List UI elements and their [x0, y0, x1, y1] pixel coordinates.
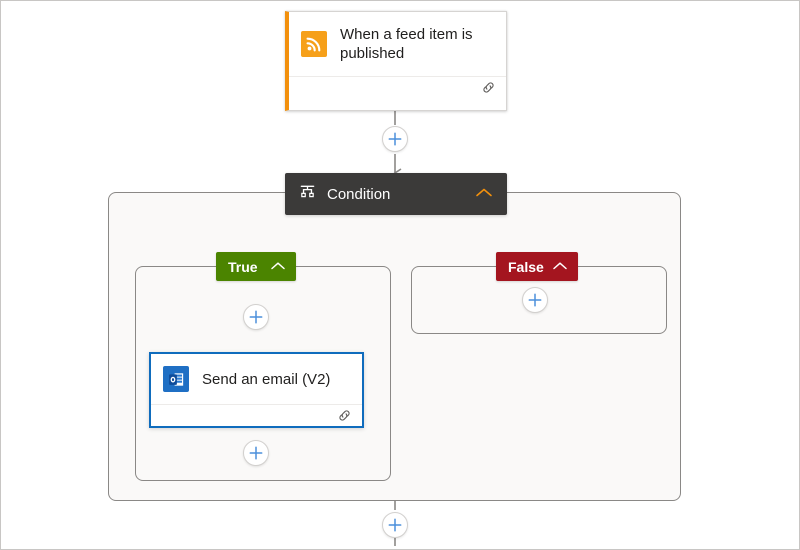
plus-icon [528, 293, 542, 307]
add-step-after-condition-button[interactable] [382, 512, 408, 538]
trigger-node-header: When a feed item is published [289, 12, 506, 76]
trigger-node-title: When a feed item is published [340, 25, 494, 63]
plus-icon [388, 132, 402, 146]
branch-label-false[interactable]: False [496, 252, 578, 281]
add-step-true-before-email-button[interactable] [243, 304, 269, 330]
action-node-footer [151, 404, 362, 430]
branch-label-false-text: False [508, 259, 552, 275]
action-node-title: Send an email (V2) [202, 370, 330, 389]
branch-label-true[interactable]: True [216, 252, 296, 281]
outlook-icon [163, 366, 189, 392]
flow-designer-canvas: When a feed item is published [0, 0, 800, 550]
add-step-after-trigger-button[interactable] [382, 126, 408, 152]
action-node-header: Send an email (V2) [151, 354, 362, 404]
add-step-false-branch-button[interactable] [522, 287, 548, 313]
chevron-up-icon[interactable] [270, 258, 286, 276]
trigger-node-footer [289, 76, 506, 102]
branch-label-true-text: True [228, 259, 270, 275]
condition-node-title: Condition [327, 186, 475, 203]
link-icon[interactable] [481, 80, 496, 100]
trigger-node-when-a-feed-item-is-published[interactable]: When a feed item is published [285, 11, 507, 111]
link-icon[interactable] [337, 408, 352, 428]
rss-icon [301, 31, 327, 57]
condition-node[interactable]: Condition [285, 173, 507, 215]
chevron-up-icon[interactable] [552, 258, 568, 276]
chevron-up-icon[interactable] [475, 185, 493, 203]
plus-icon [388, 518, 402, 532]
action-node-send-an-email-v2[interactable]: Send an email (V2) [149, 352, 364, 428]
plus-icon [249, 446, 263, 460]
plus-icon [249, 310, 263, 324]
add-step-true-after-email-button[interactable] [243, 440, 269, 466]
condition-branch-icon [299, 183, 316, 205]
